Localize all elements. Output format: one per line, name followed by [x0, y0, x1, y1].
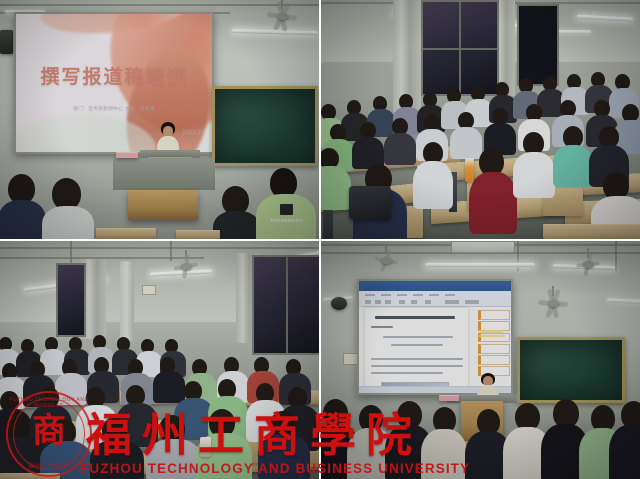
- photo-collage: 撰写报道稿培训 部门：宣传部新闻中心 主讲：记者团 2023.10: [0, 0, 640, 479]
- drink-bottle: [465, 158, 474, 182]
- window: [421, 0, 499, 96]
- ceiling-beam: [0, 4, 319, 6]
- pink-object-on-desk: [439, 395, 459, 401]
- fan-hub: [181, 263, 192, 270]
- window-mullion: [423, 48, 497, 50]
- audience-member: [2, 174, 42, 239]
- slide-subtitle: 部门：宣传部新闻中心 主讲：记者团: [16, 106, 212, 112]
- collage-panel-top-right: [321, 0, 640, 239]
- desk: [96, 228, 156, 239]
- collage-panel-top-left: 撰写报道稿培训 部门：宣传部新闻中心 主讲：记者团 2023.10: [0, 0, 319, 239]
- fan-hub: [277, 13, 288, 20]
- wall-pillar: [120, 261, 134, 341]
- desk: [176, 230, 220, 239]
- lecture-hall-stage: 撰写报道稿培训 部门：宣传部新闻中心 主讲：记者团 2023.10: [0, 0, 319, 239]
- audience-body: [256, 194, 316, 239]
- slide-date: 2023.10: [182, 130, 204, 136]
- air-conditioner: [451, 241, 515, 253]
- collage-panel-bottom-right: [321, 241, 640, 479]
- highlighted-text: [479, 335, 505, 337]
- ceiling-fan: [168, 259, 204, 273]
- wall-speaker: [331, 297, 347, 310]
- projector-screen: 撰写报道稿培训 部门：宣传部新闻中心 主讲：记者团 2023.10: [14, 12, 214, 154]
- ceiling-post: [615, 241, 617, 271]
- desk-row: [0, 473, 60, 479]
- word-title-bar: [359, 281, 511, 291]
- fluorescent-tube-light: [557, 30, 591, 34]
- desk-row: [543, 224, 640, 239]
- slide-title: 撰写报道稿培训: [16, 62, 212, 89]
- ceiling-fan: [262, 8, 302, 24]
- wall-speaker: [0, 30, 13, 54]
- word-ribbon: [359, 291, 511, 307]
- lecture-hall-stage-document: [321, 241, 640, 479]
- fluorescent-tube-light: [425, 263, 535, 267]
- fan-hub: [548, 300, 559, 307]
- highlighted-text: [479, 330, 503, 332]
- backpack: [349, 186, 391, 220]
- ceiling-beam: [0, 247, 319, 249]
- audience-member: [216, 186, 256, 239]
- ceiling-post: [170, 241, 172, 261]
- wall-sign: [142, 285, 156, 295]
- lecture-hall-audience-wide: [0, 241, 319, 479]
- audience-member: [44, 178, 90, 239]
- presentation-slide: 撰写报道稿培训 部门：宣传部新闻中心 主讲：记者团 2023.10: [16, 14, 212, 152]
- fan-hub: [381, 257, 392, 264]
- window: [56, 263, 86, 337]
- comment-card: [478, 344, 511, 354]
- audience-body: [42, 206, 94, 239]
- audience-body: [213, 211, 260, 239]
- document-section-label: [371, 326, 393, 328]
- document-page: [365, 308, 468, 391]
- lecture-hall-audience-right: [321, 0, 640, 239]
- comment-card: [478, 355, 511, 365]
- document-heading: [375, 316, 455, 319]
- podium-lower: [128, 190, 198, 220]
- ceiling-fan: [533, 295, 573, 311]
- blackboard: [212, 86, 318, 166]
- comment-card: [478, 310, 511, 320]
- fan-hub: [583, 261, 594, 268]
- ceiling-fan: [369, 253, 403, 267]
- ceiling-fan: [571, 257, 605, 271]
- drink-cup: [200, 437, 211, 457]
- audience-body: [0, 200, 46, 239]
- window-mullion: [286, 257, 288, 353]
- audience-member-green-shirt: RTESNMOOO: [256, 168, 312, 239]
- collage-panel-bottom-left: [0, 241, 319, 479]
- stage-desk: [113, 158, 215, 190]
- shirt-text: RTESNMOOO: [268, 218, 306, 223]
- blackboard: [517, 337, 625, 403]
- window: [252, 255, 319, 355]
- pink-object-on-desk: [116, 152, 138, 158]
- shirt-logo: [280, 204, 293, 215]
- window: [517, 4, 559, 86]
